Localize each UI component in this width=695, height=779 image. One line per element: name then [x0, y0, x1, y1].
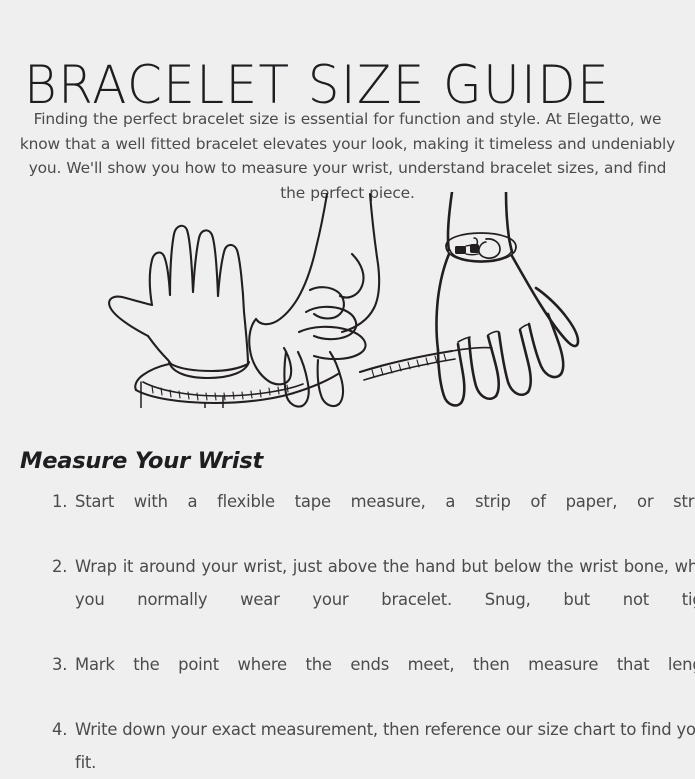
step-text: Start with a flexible tape measure, a st… [74, 486, 695, 551]
illustrations-svg [0, 192, 695, 408]
illustration-band [0, 192, 695, 408]
step-text: Wrap it around your wrist, just above th… [74, 551, 695, 649]
bracelet-size-guide-page: BRACELET SIZE GUIDE Finding the perfect … [0, 0, 695, 694]
list-item: 4. Write down your exact measurement, th… [52, 714, 695, 779]
measure-steps-list: 1. Start with a flexible tape measure, a… [12, 486, 695, 779]
step-number: 3. [52, 649, 74, 682]
intro-paragraph: Finding the perfect bracelet size is ess… [14, 107, 681, 205]
step-text: Write down your exact measurement, then … [74, 714, 695, 779]
step-number: 2. [52, 551, 74, 584]
step-text: Mark the point where the ends meet, then… [74, 649, 695, 714]
step-number: 4. [52, 714, 74, 747]
list-item: 3. Mark the point where the ends meet, t… [52, 649, 695, 714]
list-item: 1. Start with a flexible tape measure, a… [52, 486, 695, 551]
section-heading-measure-your-wrist: Measure Your Wrist [20, 447, 263, 475]
list-item: 2. Wrap it around your wrist, just above… [52, 551, 695, 649]
step-number: 1. [52, 486, 74, 519]
hand-wearing-bracelet-illustration [437, 192, 579, 405]
hands-measuring-wrist-with-tape-illustration [109, 194, 492, 408]
page-title: BRACELET SIZE GUIDE [24, 54, 674, 115]
